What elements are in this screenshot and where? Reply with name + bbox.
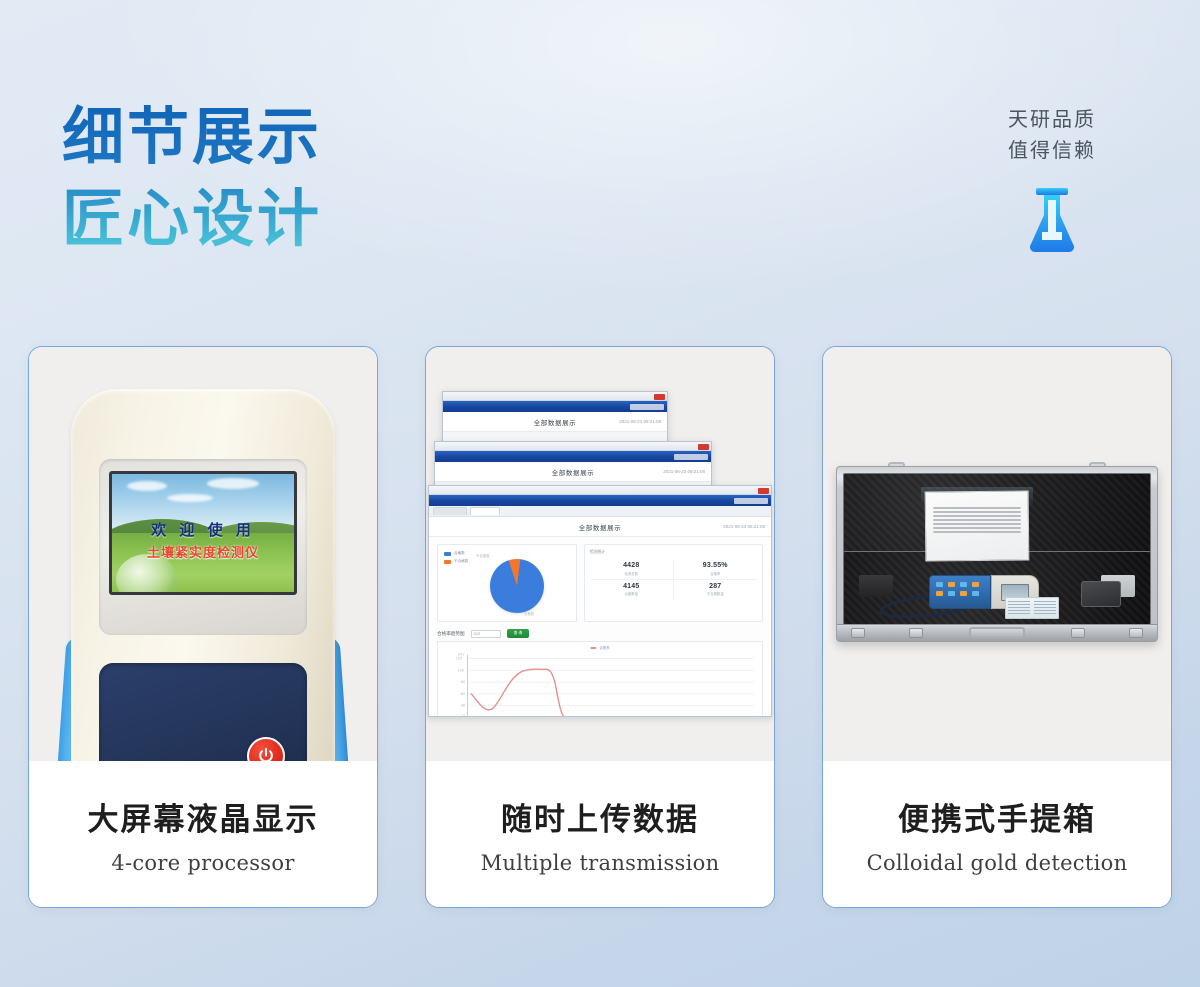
dashboard-top-row: 合格数 不合格数 不合格数 合格数 [429, 537, 771, 622]
power-icon[interactable] [247, 737, 285, 761]
card-caption-cn: 随时上传数据 [501, 794, 699, 839]
pie-chart-panel: 合格数 不合格数 不合格数 合格数 [437, 544, 577, 622]
screen-cloud [167, 494, 213, 502]
stats-grid: 4428 检测总数 93.55% 合格率 4145 合格数量 [590, 559, 757, 600]
case-latch[interactable] [851, 628, 865, 638]
svg-text:80: 80 [461, 679, 466, 684]
close-icon[interactable] [758, 488, 769, 494]
svg-text:40: 40 [461, 703, 466, 708]
browser-window-front[interactable]: 全部数据展示 2021-06-23 09:21:08 合格数 [428, 485, 772, 717]
case-latch[interactable] [1071, 628, 1085, 638]
handheld-device: 欢 迎 使 用 土壤紧实度检测仪 [53, 389, 353, 761]
brand-line-2: 值得信赖 [962, 135, 1142, 166]
case-latch[interactable] [909, 628, 923, 638]
screen-welcome-text: 欢 迎 使 用 [112, 519, 294, 540]
aluminum-carrying-case [836, 466, 1158, 642]
page-header-title: 全部数据展示 [534, 417, 577, 427]
software-screenshot-stack: 全部数据展示 2021-06-23 09:21:08 全部数据展示 2021-0… [426, 347, 774, 761]
dashboard-tabs[interactable] [429, 506, 771, 517]
device-keypad [99, 663, 307, 761]
window-chrome [443, 392, 667, 401]
flask-icon [962, 188, 1142, 254]
card-caption-en: 4-core processor [111, 851, 294, 875]
stat-value: 287 [674, 583, 758, 590]
svg-text:0: 0 [463, 712, 466, 717]
date-input[interactable]: 2021 [471, 630, 501, 638]
svg-text:(%): (%) [458, 652, 465, 657]
card-caption: 大屏幕液晶显示 4-core processor [29, 761, 377, 907]
tab-all-data-display[interactable] [470, 507, 500, 515]
card-caption-cn: 便携式手提箱 [898, 794, 1096, 839]
stats-panel: 检测统计 4428 检测总数 93.55% 合格率 [584, 544, 763, 622]
svg-text:100: 100 [458, 667, 465, 672]
feature-card-case[interactable]: 便携式手提箱 Colloidal gold detection [822, 346, 1172, 908]
carrying-case-photo [823, 347, 1171, 761]
stat-value: 4428 [590, 562, 673, 569]
page-header-title: 全部数据展示 [552, 467, 595, 477]
legend-swatch-rate [590, 647, 596, 649]
screen-cloud [207, 478, 259, 489]
stat-value: 4145 [590, 583, 673, 590]
stat-value: 93.55% [674, 562, 758, 569]
brand-block: 天研品质 值得信赖 [962, 104, 1142, 254]
screen-product-name: 土壤紧实度检测仪 [112, 542, 294, 561]
legend-swatch-fail [444, 560, 451, 564]
manual-text-lines [933, 507, 1021, 533]
svg-text:60: 60 [461, 691, 466, 696]
case-handle[interactable] [969, 627, 1025, 639]
line-chart-svg: 120 100 80 60 40 0 (%) 日期 [438, 646, 762, 717]
line-chart-panel: 合格率 [437, 641, 763, 717]
page-header-timestamp: 2021-06-23 09:21:08 [619, 419, 661, 424]
device-keys [936, 582, 979, 596]
stat-label: 合格率 [674, 571, 758, 576]
legend-item: 不合格数 [444, 559, 468, 564]
close-icon[interactable] [654, 394, 665, 400]
pie-callout-fail: 不合格数 [476, 553, 490, 558]
brand-line-1: 天研品质 [962, 104, 1142, 135]
page-header-title: 全部数据展示 [579, 522, 622, 532]
feature-card-display[interactable]: 欢 迎 使 用 土壤紧实度检测仪 大屏幕液晶显示 4-core processo… [28, 346, 378, 908]
card-caption-en: Colloidal gold detection [867, 851, 1128, 875]
stat-label: 不合格数量 [674, 591, 758, 596]
power-adapter [1081, 581, 1121, 607]
headline-line-1: 细节展示 [62, 100, 322, 173]
booklet [1005, 597, 1059, 619]
card-caption: 随时上传数据 Multiple transmission [426, 761, 774, 907]
window-chrome [435, 442, 711, 451]
stat-cell: 4428 检测总数 [590, 559, 674, 580]
feature-card-list: 欢 迎 使 用 土壤紧实度检测仪 大屏幕液晶显示 4-core processo… [0, 346, 1200, 908]
stat-cell: 93.55% 合格率 [674, 559, 758, 580]
headline-line-2: 匠心设计 [62, 178, 322, 260]
device-photo: 欢 迎 使 用 土壤紧实度检测仪 [29, 347, 377, 761]
tab-data-management[interactable] [433, 507, 467, 515]
chart-toolbar: 合格率趋势图 2021 查 询 [429, 622, 771, 641]
close-icon[interactable] [698, 444, 709, 450]
window-titlebar [443, 401, 667, 412]
pie-chart [490, 559, 544, 613]
window-titlebar [435, 451, 711, 462]
stat-label: 检测总数 [590, 571, 673, 576]
device-keypad-side [929, 575, 991, 609]
chart-legend: 合格率 [590, 645, 609, 650]
feature-card-software[interactable]: 全部数据展示 2021-06-23 09:21:08 全部数据展示 2021-0… [425, 346, 775, 908]
legend-label-fail: 不合格数 [454, 559, 468, 564]
stat-label: 合格数量 [590, 591, 673, 596]
card-caption-en: Multiple transmission [481, 851, 720, 875]
case-latch[interactable] [1129, 628, 1143, 638]
page-header: 全部数据展示 2021-06-23 09:21:08 [429, 517, 771, 537]
legend-label-pass: 合格数 [454, 551, 465, 556]
legend-label-rate: 合格率 [599, 645, 609, 650]
legend-swatch-pass [444, 552, 451, 556]
query-button[interactable]: 查 询 [507, 629, 530, 638]
case-bottom-frame [837, 624, 1157, 641]
stat-cell: 287 不合格数量 [674, 580, 758, 601]
page-header-timestamp: 2021-06-23 09:21:08 [723, 524, 765, 529]
foam-block [859, 575, 893, 597]
page-title: 细节展示 匠心设计 [62, 96, 322, 261]
legend-item: 合格数 [444, 551, 468, 556]
window-chrome [429, 486, 771, 495]
page-header-timestamp: 2021-06-23 09:21:08 [663, 469, 705, 474]
pie-callout-pass: 合格数 [524, 611, 534, 616]
device-lcd-screen: 欢 迎 使 用 土壤紧实度检测仪 [109, 471, 297, 595]
chart-title: 合格率趋势图 [437, 631, 465, 637]
pie-legend: 合格数 不合格数 [444, 551, 468, 564]
stats-heading: 检测统计 [590, 550, 757, 555]
card-caption: 便携式手提箱 Colloidal gold detection [823, 761, 1171, 907]
case-shell [836, 466, 1158, 642]
page-header: 全部数据展示 2021-06-23 09:21:08 [443, 412, 667, 432]
page-header: 全部数据展示 2021-06-23 09:21:08 [435, 462, 711, 482]
screen-cloud [127, 481, 167, 491]
card-caption-cn: 大屏幕液晶显示 [88, 794, 319, 839]
window-titlebar [429, 495, 771, 506]
stat-cell: 4145 合格数量 [590, 580, 674, 601]
